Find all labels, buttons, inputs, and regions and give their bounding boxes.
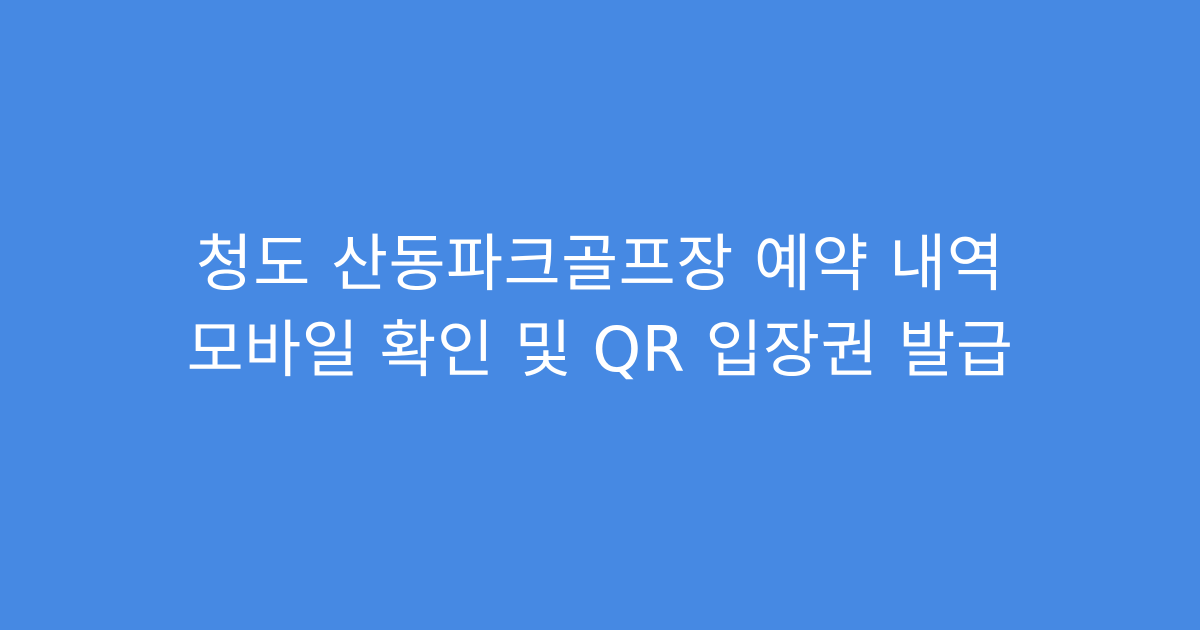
title-line-1: 청도 산동파크골프장 예약 내역 [70,221,1130,307]
title-line-2: 모바일 확인 및 QR 입장권 발급 [70,307,1130,393]
thumbnail-card: 청도 산동파크골프장 예약 내역 모바일 확인 및 QR 입장권 발급 [0,0,1200,630]
page-title: 청도 산동파크골프장 예약 내역 모바일 확인 및 QR 입장권 발급 [70,221,1130,393]
